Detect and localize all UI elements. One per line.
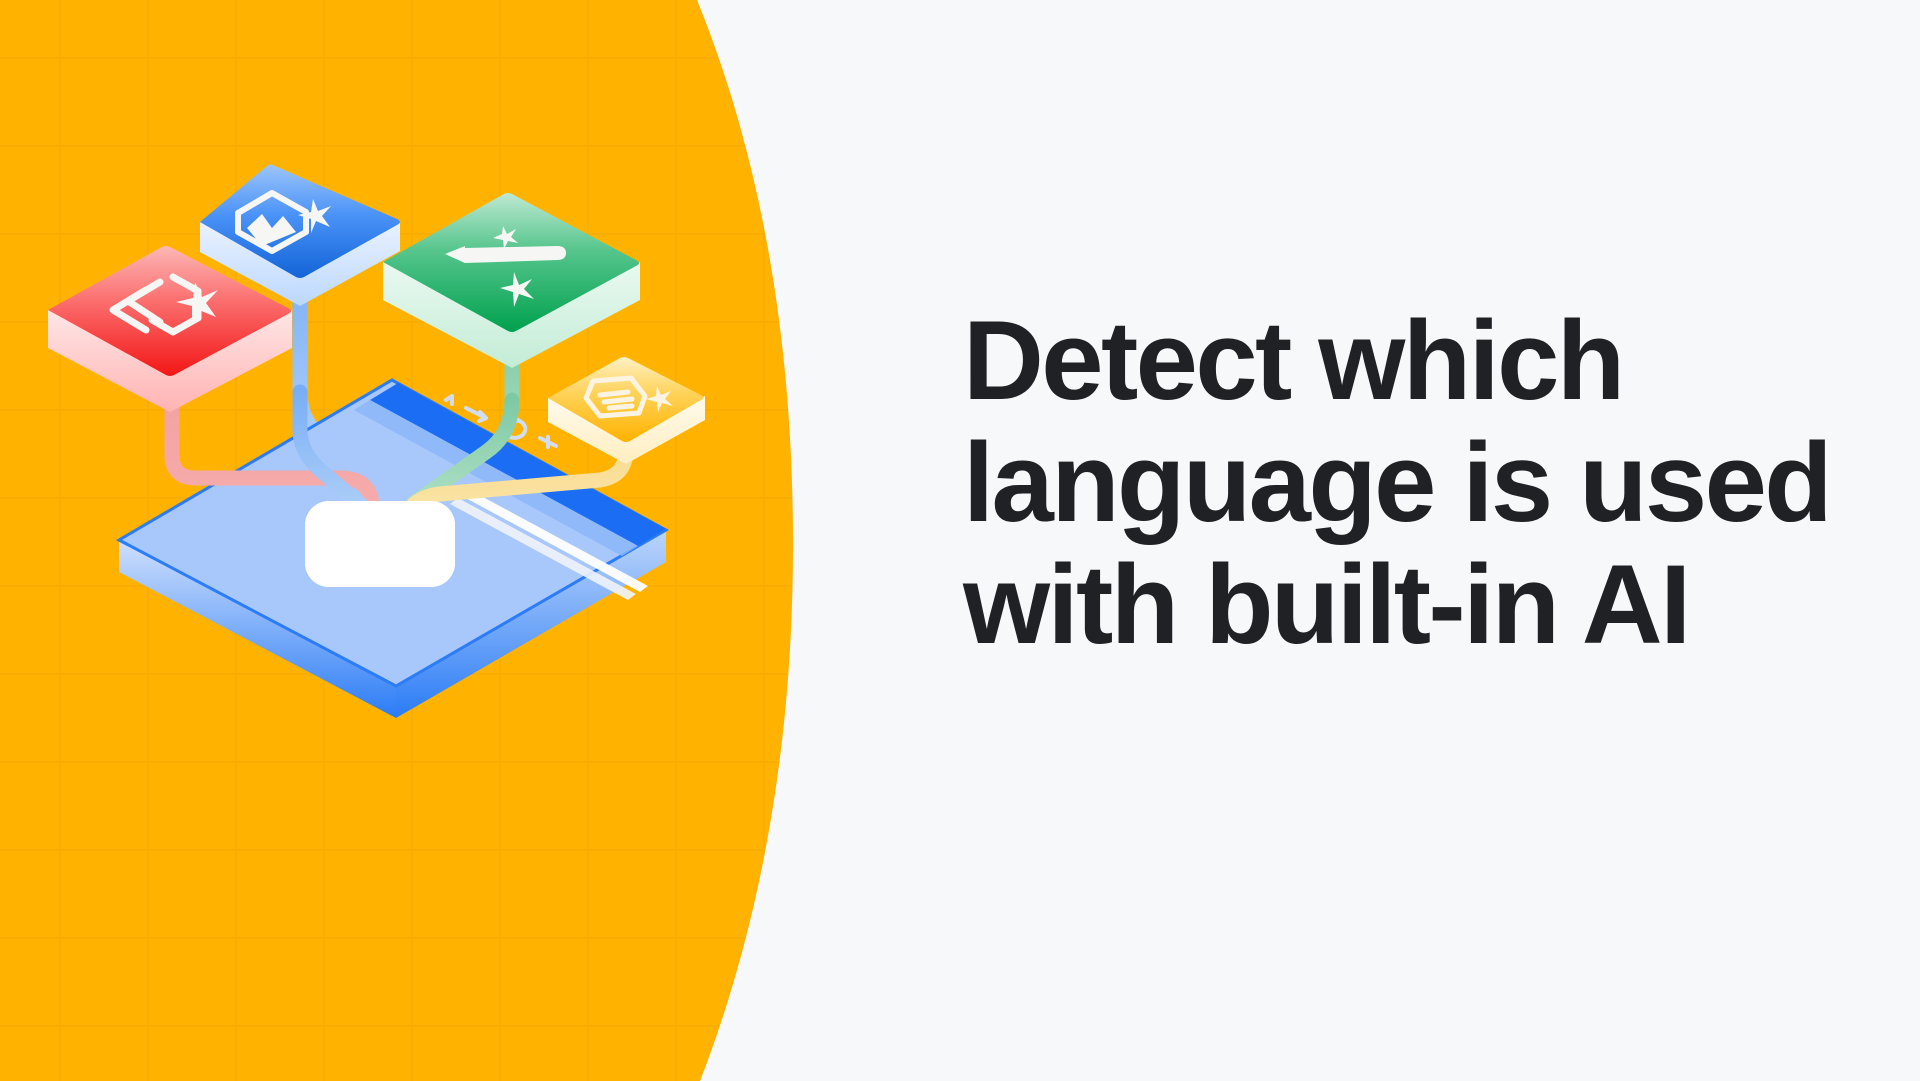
illustration-panel (0, 0, 980, 1081)
page-title: Detect which language is used with built… (963, 300, 1843, 666)
isometric-illustration (0, 0, 980, 1081)
headline-block: Detect which language is used with built… (963, 300, 1843, 666)
slide-canvas: Detect which language is used with built… (0, 0, 1920, 1081)
